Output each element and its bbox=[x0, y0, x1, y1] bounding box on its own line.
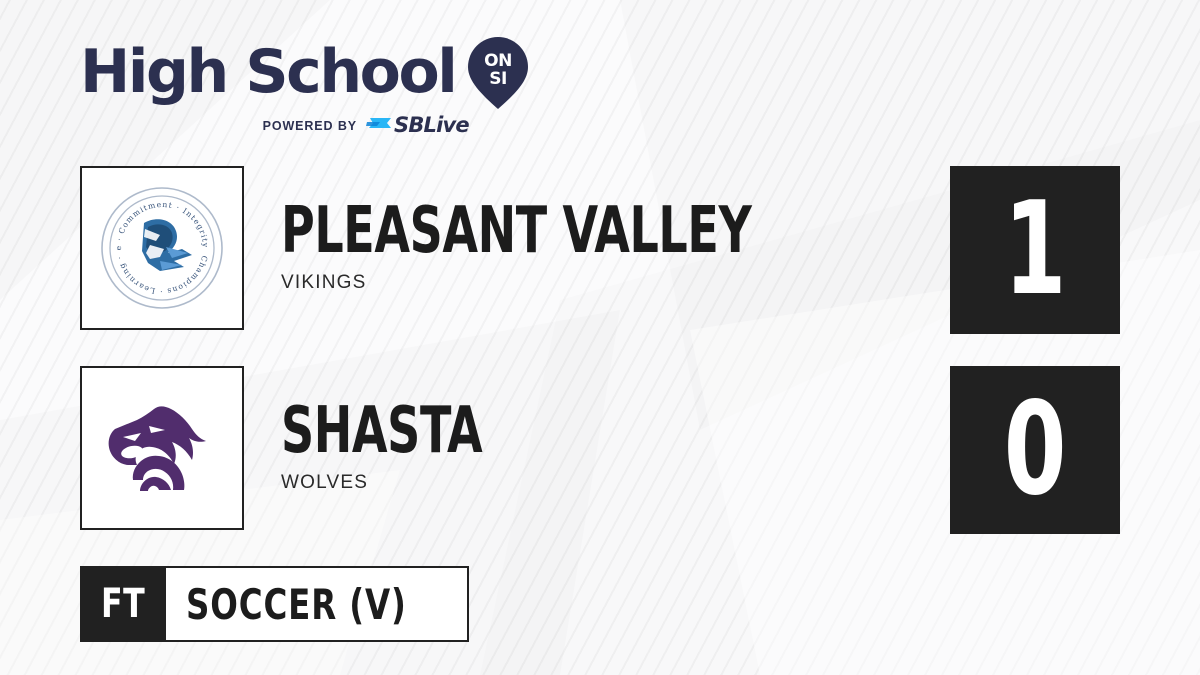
team-score-box: 0 bbox=[950, 366, 1120, 534]
team-mascot: VIKINGS bbox=[281, 272, 869, 294]
sblive-logo: SBLive bbox=[366, 115, 469, 136]
team-name: PLEASANT VALLEY bbox=[281, 202, 751, 261]
sblive-bolt-icon bbox=[366, 116, 392, 136]
team-mascot: WOLVES bbox=[281, 472, 533, 494]
wolf-head-logo-icon bbox=[99, 393, 225, 503]
team-score-value: 1 bbox=[1004, 186, 1066, 314]
game-status-code-box: FT bbox=[80, 566, 166, 642]
game-status-code: FT bbox=[101, 581, 145, 627]
game-sport-label: SOCCER (V) bbox=[186, 580, 407, 629]
on-si-pin-icon: ON SI bbox=[467, 36, 529, 110]
game-sport-box: SOCCER (V) bbox=[166, 566, 469, 642]
team-logo-card: Excellence · Commitment · Integrity · Re… bbox=[80, 166, 244, 330]
scoreboard-graphic: High School ON SI POWERED BY SBLive bbox=[0, 0, 1200, 675]
brand-wordmark: High School bbox=[80, 42, 455, 102]
powered-by-label: POWERED BY bbox=[263, 119, 357, 133]
team-score-value: 0 bbox=[1004, 386, 1066, 514]
team-row: Excellence · Commitment · Integrity · Re… bbox=[80, 166, 869, 330]
team-score-box: 1 bbox=[950, 166, 1120, 334]
viking-head-seal-logo-icon: Excellence · Commitment · Integrity · Re… bbox=[97, 183, 227, 313]
sblive-wordmark: SBLive bbox=[394, 115, 469, 136]
team-text-block: PLEASANT VALLEY VIKINGS bbox=[281, 202, 869, 295]
team-logo-card bbox=[80, 366, 244, 530]
team-text-block: SHASTA WOLVES bbox=[281, 402, 533, 495]
brand-header: High School ON SI POWERED BY SBLive bbox=[80, 34, 529, 136]
svg-text:ON: ON bbox=[485, 51, 513, 71]
powered-by-row: POWERED BY SBLive bbox=[202, 115, 529, 136]
game-status-bar: FT SOCCER (V) bbox=[80, 566, 469, 642]
brand-logo-row: High School ON SI bbox=[80, 34, 529, 110]
team-name: SHASTA bbox=[281, 402, 482, 461]
svg-text:SI: SI bbox=[490, 69, 508, 89]
team-row: SHASTA WOLVES bbox=[80, 366, 533, 530]
